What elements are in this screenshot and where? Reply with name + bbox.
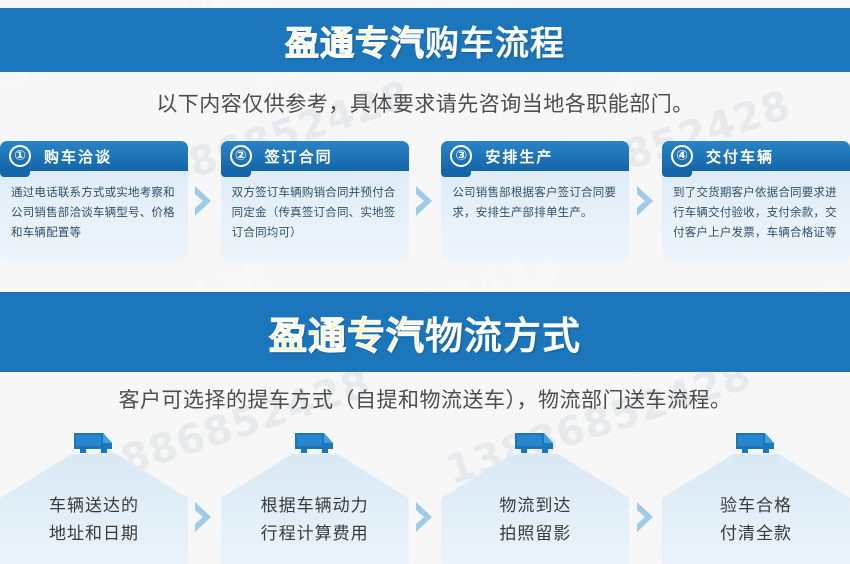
logistics-card-2-line2: 行程计算费用 [261,520,369,548]
truck-icon [512,430,558,460]
truck-icon [71,430,117,460]
logistics-card-3[interactable]: 物流到达 拍照留影 [441,430,629,564]
step-card-2-header: ② 签订合同 [221,141,409,171]
logistics-card-4[interactable]: 验车合格 付清全款 [662,430,850,564]
logistics-banner-title: 盈通专汽物流方式 [269,305,581,360]
logistics-steps-row: 车辆送达的 地址和日期 根据车辆动力 行程计算费用 [0,430,850,564]
purchase-banner-heading: 购车流程 [425,24,565,64]
chevron-right-icon [629,141,662,261]
truck-icon [292,430,338,460]
logistics-subtitle: 客户可选择的提车方式（自提和物流送车），物流部门送车流程。 [0,384,850,414]
logistics-card-1-line1: 车辆送达的 [49,492,139,520]
logistics-card-4-panel: 验车合格 付清全款 [662,454,850,564]
purchase-banner-title: 盈通专汽购车流程 [285,16,565,65]
step-number-badge: ① [9,145,31,167]
logistics-card-2-panel: 根据车辆动力 行程计算费用 [221,454,409,564]
step-card-2[interactable]: ② 签订合同 双方签订车辆购销合同并预付合同定金（传真签订合同、实地签订合同均可… [221,141,409,261]
logistics-card-1[interactable]: 车辆送达的 地址和日期 [0,430,188,564]
chevron-right-icon [188,430,221,564]
truck-icon [733,430,779,460]
step-number-badge: ③ [450,145,472,167]
brand-name: 盈通专汽 [269,314,425,358]
purchase-subtitle: 以下内容仅供参考，具体要求请先咨询当地各职能部门。 [0,88,850,118]
step-card-2-title: 签订合同 [265,146,333,167]
step-card-1-title: 购车洽谈 [44,146,112,167]
logistics-card-2[interactable]: 根据车辆动力 行程计算费用 [221,430,409,564]
chevron-right-icon [409,430,442,564]
logistics-card-1-panel: 车辆送达的 地址和日期 [0,454,188,564]
logistics-banner-heading: 物流方式 [425,314,581,358]
chevron-right-icon [629,430,662,564]
logistics-card-4-line1: 验车合格 [720,492,792,520]
step-number-badge: ② [230,145,252,167]
logistics-card-3-panel: 物流到达 拍照留影 [441,454,629,564]
chevron-right-icon [188,141,221,261]
step-card-1-body: 通过电话联系方式或实地考察和公司销售部洽谈车辆型号、价格和车辆配置等 [0,171,188,261]
brand-name: 盈通专汽 [285,24,425,64]
chevron-right-icon [409,141,442,261]
step-card-3-title: 安排生产 [485,146,553,167]
step-card-3[interactable]: ③ 安排生产 公司销售部根据客户签订合同要求，安排生产部排单生产。 [441,141,629,261]
step-card-4-body: 到了交货期客户依据合同要求进行车辆交付验收，支付余款，交付客户上户发票，车辆合格… [662,171,850,261]
step-card-3-header: ③ 安排生产 [441,141,629,171]
step-card-2-body: 双方签订车辆购销合同并预付合同定金（传真签订合同、实地签订合同均可） [221,171,409,261]
step-card-4-header: ④ 交付车辆 [662,141,850,171]
purchase-banner: 盈通专汽购车流程 [0,8,850,72]
step-card-1-header: ① 购车洽谈 [0,141,188,171]
logistics-card-2-line1: 根据车辆动力 [261,492,369,520]
step-card-4-title: 交付车辆 [706,146,774,167]
logistics-card-3-line1: 物流到达 [499,492,571,520]
step-card-4[interactable]: ④ 交付车辆 到了交货期客户依据合同要求进行车辆交付验收，支付余款，交付客户上户… [662,141,850,261]
logistics-card-1-line2: 地址和日期 [49,520,139,548]
step-number-badge: ④ [671,145,693,167]
purchase-steps-row: ① 购车洽谈 通过电话联系方式或实地考察和公司销售部洽谈车辆型号、价格和车辆配置… [0,141,850,261]
logistics-banner: 盈通专汽物流方式 [0,292,850,372]
logistics-card-4-line2: 付清全款 [720,520,792,548]
step-card-1[interactable]: ① 购车洽谈 通过电话联系方式或实地考察和公司销售部洽谈车辆型号、价格和车辆配置… [0,141,188,261]
step-card-3-body: 公司销售部根据客户签订合同要求，安排生产部排单生产。 [441,171,629,261]
logistics-card-3-line2: 拍照留影 [499,520,571,548]
